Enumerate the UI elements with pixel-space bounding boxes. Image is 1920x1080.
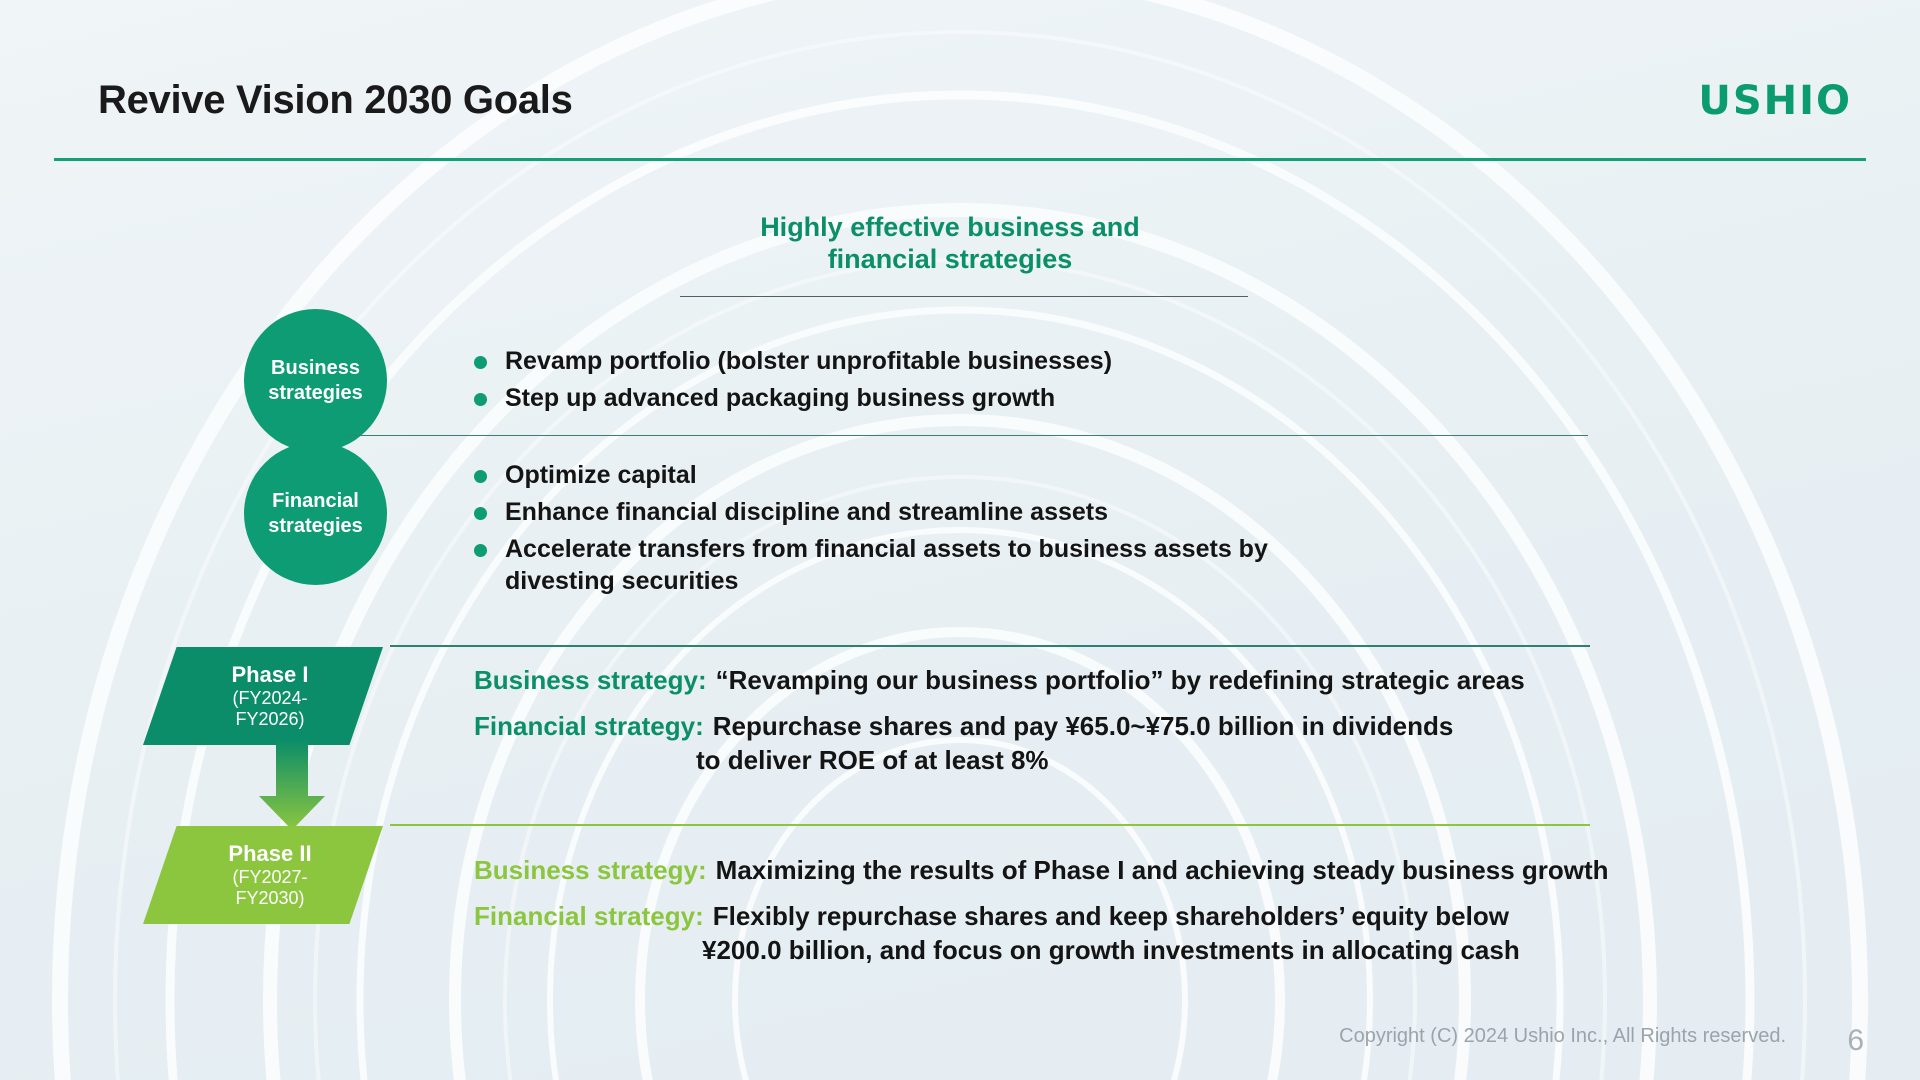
phase-1-strategies: Business strategy: “Revamping our busine… [474,665,1774,777]
bullet-text: Optimize capital [505,459,697,491]
phase-2-financial-strategy-continuation: ¥200.0 billion, and focus on growth inve… [702,935,1854,967]
phase-2-divider [390,824,1590,826]
phase-1-years-line-1: (FY2024- [232,688,307,708]
phase-2-tag: Phase II (FY2027- FY2030) [143,826,383,924]
phase-1-divider [390,645,1590,647]
bullet-text: Revamp portfolio (bolster unprofitable b… [505,345,1112,377]
phase-1-years-line-2: FY2026) [235,709,304,729]
phase-1-financial-strategy-value: Repurchase shares and pay ¥65.0~¥75.0 bi… [713,711,1454,743]
phase-1-tag: Phase I (FY2024- FY2026) [143,647,383,745]
bullet-text-line-1: Accelerate transfers from financial asse… [505,535,1268,563]
financial-bullet-list: Optimize capital Enhance financial disci… [474,459,1524,602]
list-item: Step up advanced packaging business grow… [474,382,1574,414]
circle-business-strategies: Business strategies [244,309,387,452]
list-item: Enhance financial discipline and streaml… [474,496,1524,528]
circle-business-line-2: strategies [268,381,363,405]
list-item: Optimize capital [474,459,1524,491]
circle-business-line-1: Business [268,356,363,380]
page-title: Revive Vision 2030 Goals [98,78,573,123]
phase-2-business-strategy-value: Maximizing the results of Phase I and ac… [716,855,1609,887]
phase-2-strategies: Business strategy: Maximizing the result… [474,855,1854,967]
bullet-text-line-2: divesting securities [505,567,738,595]
phase-1-business-strategy-value: “Revamping our business portfolio” by re… [716,665,1525,697]
phase-2-business-strategy-label: Business strategy: [474,855,707,886]
circle-financial-line-1: Financial [268,489,363,513]
bullet-dot-icon [474,507,487,520]
phase-2-financial-strategy-label: Financial strategy: [474,901,704,932]
circle-financial-line-2: strategies [268,514,363,538]
list-item: Revamp portfolio (bolster unprofitable b… [474,345,1574,377]
section-heading: Highly effective business and financial … [680,212,1220,276]
phase-2-years-line-2: FY2030) [235,888,304,908]
strategies-divider [348,435,1588,436]
bullet-dot-icon [474,544,487,557]
phase-1-business-strategy-label: Business strategy: [474,665,707,696]
bullet-text: Step up advanced packaging business grow… [505,382,1055,414]
section-heading-line-1: Highly effective business and [680,212,1220,244]
circle-financial-strategies: Financial strategies [244,442,387,585]
section-heading-underline [680,296,1248,297]
bullet-dot-icon [474,393,487,406]
phase-1-financial-strategy-row: Financial strategy: Repurchase shares an… [474,711,1774,743]
bullet-dot-icon [474,470,487,483]
page-number: 6 [1847,1024,1864,1058]
phase-2-business-strategy-row: Business strategy: Maximizing the result… [474,855,1854,887]
phase-2-financial-strategy-value: Flexibly repurchase shares and keep shar… [713,901,1509,933]
section-heading-line-2: financial strategies [680,244,1220,276]
phase-1-business-strategy-row: Business strategy: “Revamping our busine… [474,665,1774,697]
copyright-notice: Copyright (C) 2024 Ushio Inc., All Right… [1339,1025,1786,1048]
header-divider [54,158,1866,161]
slide-canvas: Revive Vision 2030 Goals USHIO Highly ef… [0,0,1920,1080]
phase-1-financial-strategy-label: Financial strategy: [474,711,704,742]
phase-2-financial-strategy-row: Financial strategy: Flexibly repurchase … [474,901,1854,933]
phase-1-financial-strategy-continuation: to deliver ROE of at least 8% [696,745,1774,777]
business-bullet-list: Revamp portfolio (bolster unprofitable b… [474,345,1574,419]
bullet-text: Enhance financial discipline and streaml… [505,496,1108,528]
bullet-text: Accelerate transfers from financial asse… [505,533,1268,597]
phase-1-name: Phase I [231,663,308,687]
phase-2-name: Phase II [228,842,311,866]
bullet-dot-icon [474,356,487,369]
list-item: Accelerate transfers from financial asse… [474,533,1524,597]
phase-2-years-line-1: (FY2027- [232,867,307,887]
ushio-logo: USHIO [1698,78,1852,124]
phase-transition-arrow-icon [259,740,325,830]
